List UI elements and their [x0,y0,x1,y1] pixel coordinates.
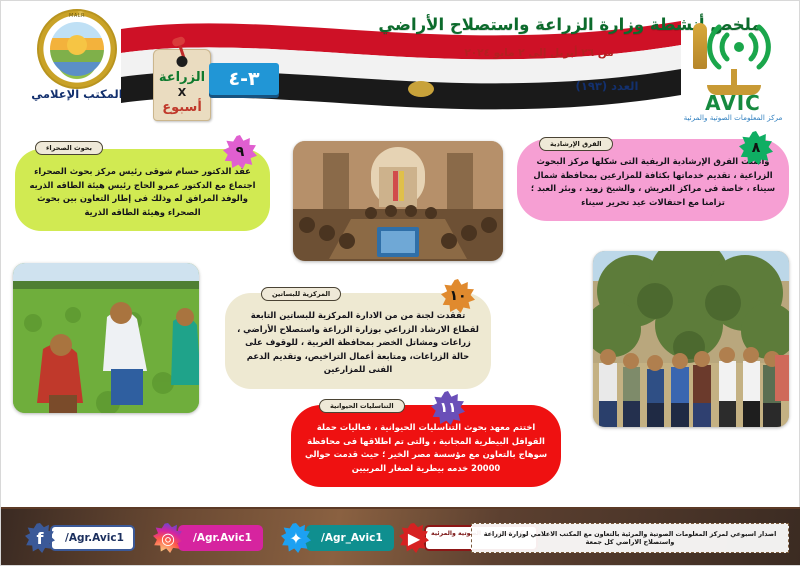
agriculture-week-tag: الزراعة X أسبوع [153,49,211,121]
news-block-8: ٨ الفرق الإرشادية واصلت الفرق الإرشادية … [517,139,789,221]
broadcast-waves-icon [707,21,771,73]
instagram-link[interactable]: ◎ /Agr.Avic1 [153,523,263,553]
tag-line-1: الزراعة [154,70,210,85]
block-label-11: التناسليات الحيوانية [319,399,405,413]
wheat-icon [693,23,707,69]
avic-logo: AVIC مركز المعلومات الصوتية والمرئية [673,11,793,129]
news-block-9: ٩ بحوث الصحراء عقد الدكتور حسام شوقى رئي… [15,149,270,231]
block-label-8: الفرق الإرشادية [539,137,613,151]
issue-number: العدد (١٩٣) [547,79,667,93]
page-footer: f /Agr.Avic1 ◎ /Agr.Avic1 ✦ /Agr_Avic1 ▶… [1,507,800,565]
block-label-9: بحوث الصحراء [35,141,103,155]
group-in-olive-grove-photo [593,251,789,427]
facebook-link[interactable]: f /Agr.Avic1 [25,523,135,553]
footer-note: اصدار اسبوعي لمركز المعلومات الصوتية وال… [471,523,789,553]
malr-seal-text: MALR [39,13,115,19]
malr-seal-icon: MALR [37,9,117,89]
page-number-badge: ٣-٤ [209,63,279,95]
block-text-11: اختتم معهد بحوث التناسليات الحيوانية ، ف… [291,405,561,487]
tag-line-2: أسبوع [154,100,210,115]
block-label-10: المركزية للبساتين [261,287,341,301]
farmers-in-field-photo [13,263,199,413]
malr-seal-inner [50,22,104,76]
news-block-11: ١١ التناسليات الحيوانية اختتم معهد بحوث … [291,405,561,487]
tag-x: X [154,86,210,99]
page-header: MALR المكتب الإعلامي الزراعة X أسبوع ٣-٤ [1,1,800,131]
avic-subtitle: مركز المعلومات الصوتية والمرئية [671,113,795,122]
instagram-handle[interactable]: /Agr.Avic1 [178,525,263,551]
sun-icon [67,35,87,55]
ministry-logo-label: المكتب الإعلامي [23,87,131,101]
twitter-link[interactable]: ✦ /Agr_Avic1 [281,523,394,553]
facebook-handle[interactable]: /Agr.Avic1 [50,525,135,551]
avic-name: AVIC [673,91,793,115]
newsletter-page: MALR المكتب الإعلامي الزراعة X أسبوع ٣-٤ [0,0,800,566]
twitter-handle[interactable]: /Agr_Avic1 [306,525,394,551]
date-range: من ٢٦ أبريل إلى ٢ مايو ٢٠٢٤ [389,47,689,59]
meeting-room-photo [293,141,503,261]
tag-hole-icon [177,56,188,67]
ministry-logo: MALR المكتب الإعلامي [29,9,125,97]
news-block-10: ١٠ المركزية للبساتين تفقدت لجنة من من ال… [225,293,491,389]
